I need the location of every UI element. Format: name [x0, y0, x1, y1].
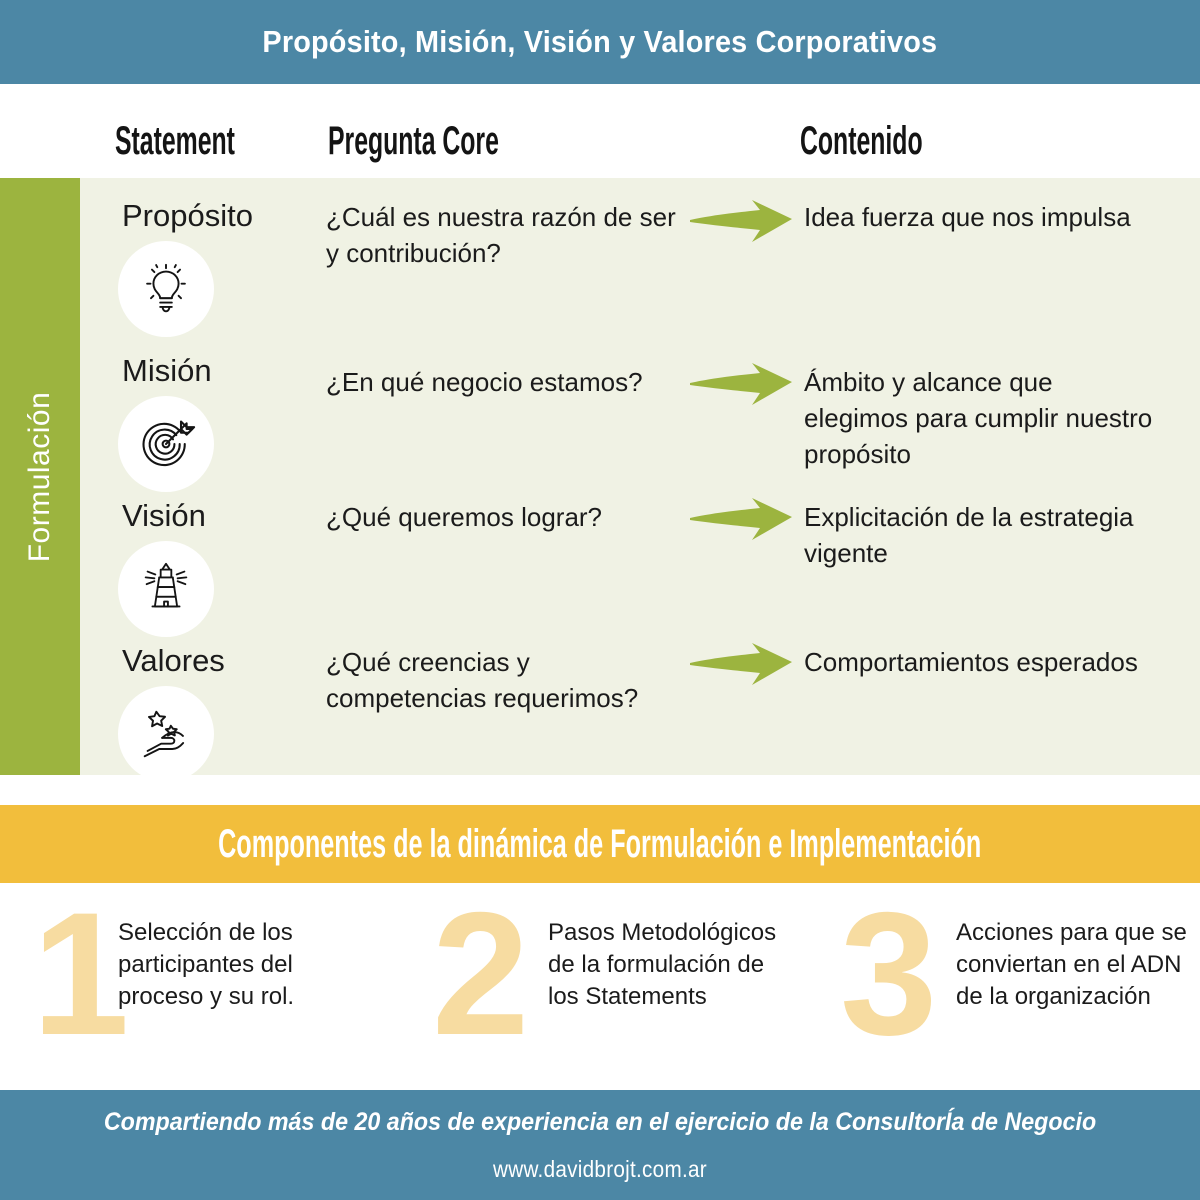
table-row: Valores ¿Qué creencias y competencias re… [80, 623, 1200, 775]
step-number: 2 [432, 887, 525, 1062]
formulacion-side-label: Formulación [23, 391, 57, 562]
column-headers: Statement Pregunta Core Contenido [0, 84, 1200, 178]
statement-label: Visión [118, 478, 348, 531]
content-cell: Comportamientos esperados [804, 645, 1160, 681]
step-number: 3 [840, 887, 933, 1062]
column-header-pregunta-core: Pregunta Core [328, 119, 499, 164]
table-row: Misión ¿En qué negocio estamos? Ámbito y… [80, 333, 1200, 478]
question-cell: ¿Cuál es nuestra razón de ser y contribu… [326, 200, 686, 272]
question-cell: ¿Qué queremos lograr? [326, 500, 686, 536]
statement-cell-valores: Valores [118, 623, 348, 782]
question-cell: ¿En qué negocio estamos? [326, 365, 686, 401]
arrow-right-icon [688, 496, 794, 542]
statement-cell-vision: Visión [118, 478, 348, 637]
formulacion-panel: Formulación Propósito ¿Cuál es nuestra r… [0, 178, 1200, 775]
step-text: Acciones para que se conviertan en el AD… [956, 917, 1200, 1013]
steps-row: 1 Selección de los participantes del pro… [0, 895, 1200, 1070]
question-cell: ¿Qué creencias y competencias requerimos… [326, 645, 686, 717]
content-cell: Ámbito y alcance que elegimos para cumpl… [804, 365, 1160, 473]
step-item: 1 Selección de los participantes del pro… [14, 895, 414, 1070]
step-number: 1 [32, 887, 125, 1062]
content-cell: Explicitación de la estrategia vigente [804, 500, 1160, 572]
lightbulb-icon [118, 241, 214, 337]
statement-cell-proposito: Propósito [118, 178, 348, 337]
arrow-right-icon [688, 198, 794, 244]
footer-tagline: Compartiendo más de 20 años de experienc… [42, 1108, 1158, 1137]
step-item: 3 Acciones para que se conviertan en el … [822, 895, 1200, 1070]
arrow-right-icon [688, 361, 794, 407]
footer-url[interactable]: www.davidbrojt.com.ar [60, 1156, 1140, 1183]
column-header-statement: Statement [115, 119, 235, 164]
column-header-contenido: Contenido [800, 119, 923, 164]
statement-label: Misión [118, 333, 348, 386]
statement-label: Propósito [118, 178, 348, 231]
banner-title: Componentes de la dinámica de Formulació… [218, 822, 981, 867]
header-bar: Propósito, Misión, Visión y Valores Corp… [0, 0, 1200, 84]
table-row: Propósito ¿Cuál es nuestra razón de ser … [80, 178, 1200, 333]
hand-stars-icon [118, 686, 214, 782]
arrow-right-icon [688, 641, 794, 687]
page-title: Propósito, Misión, Visión y Valores Corp… [263, 24, 938, 60]
step-text: Selección de los participantes del proce… [118, 917, 368, 1013]
componentes-banner: Componentes de la dinámica de Formulació… [0, 805, 1200, 883]
footer-bar: Compartiendo más de 20 años de experienc… [0, 1090, 1200, 1200]
step-text: Pasos Metodológicos de la formulación de… [548, 917, 798, 1013]
content-cell: Idea fuerza que nos impulsa [804, 200, 1160, 236]
statement-cell-mision: Misión [118, 333, 348, 492]
formulacion-side-band: Formulación [0, 178, 80, 775]
step-item: 2 Pasos Metodológicos de la formulación … [418, 895, 818, 1070]
statement-label: Valores [118, 623, 348, 676]
table-row: Visión ¿Qué queremos lograr [80, 478, 1200, 623]
